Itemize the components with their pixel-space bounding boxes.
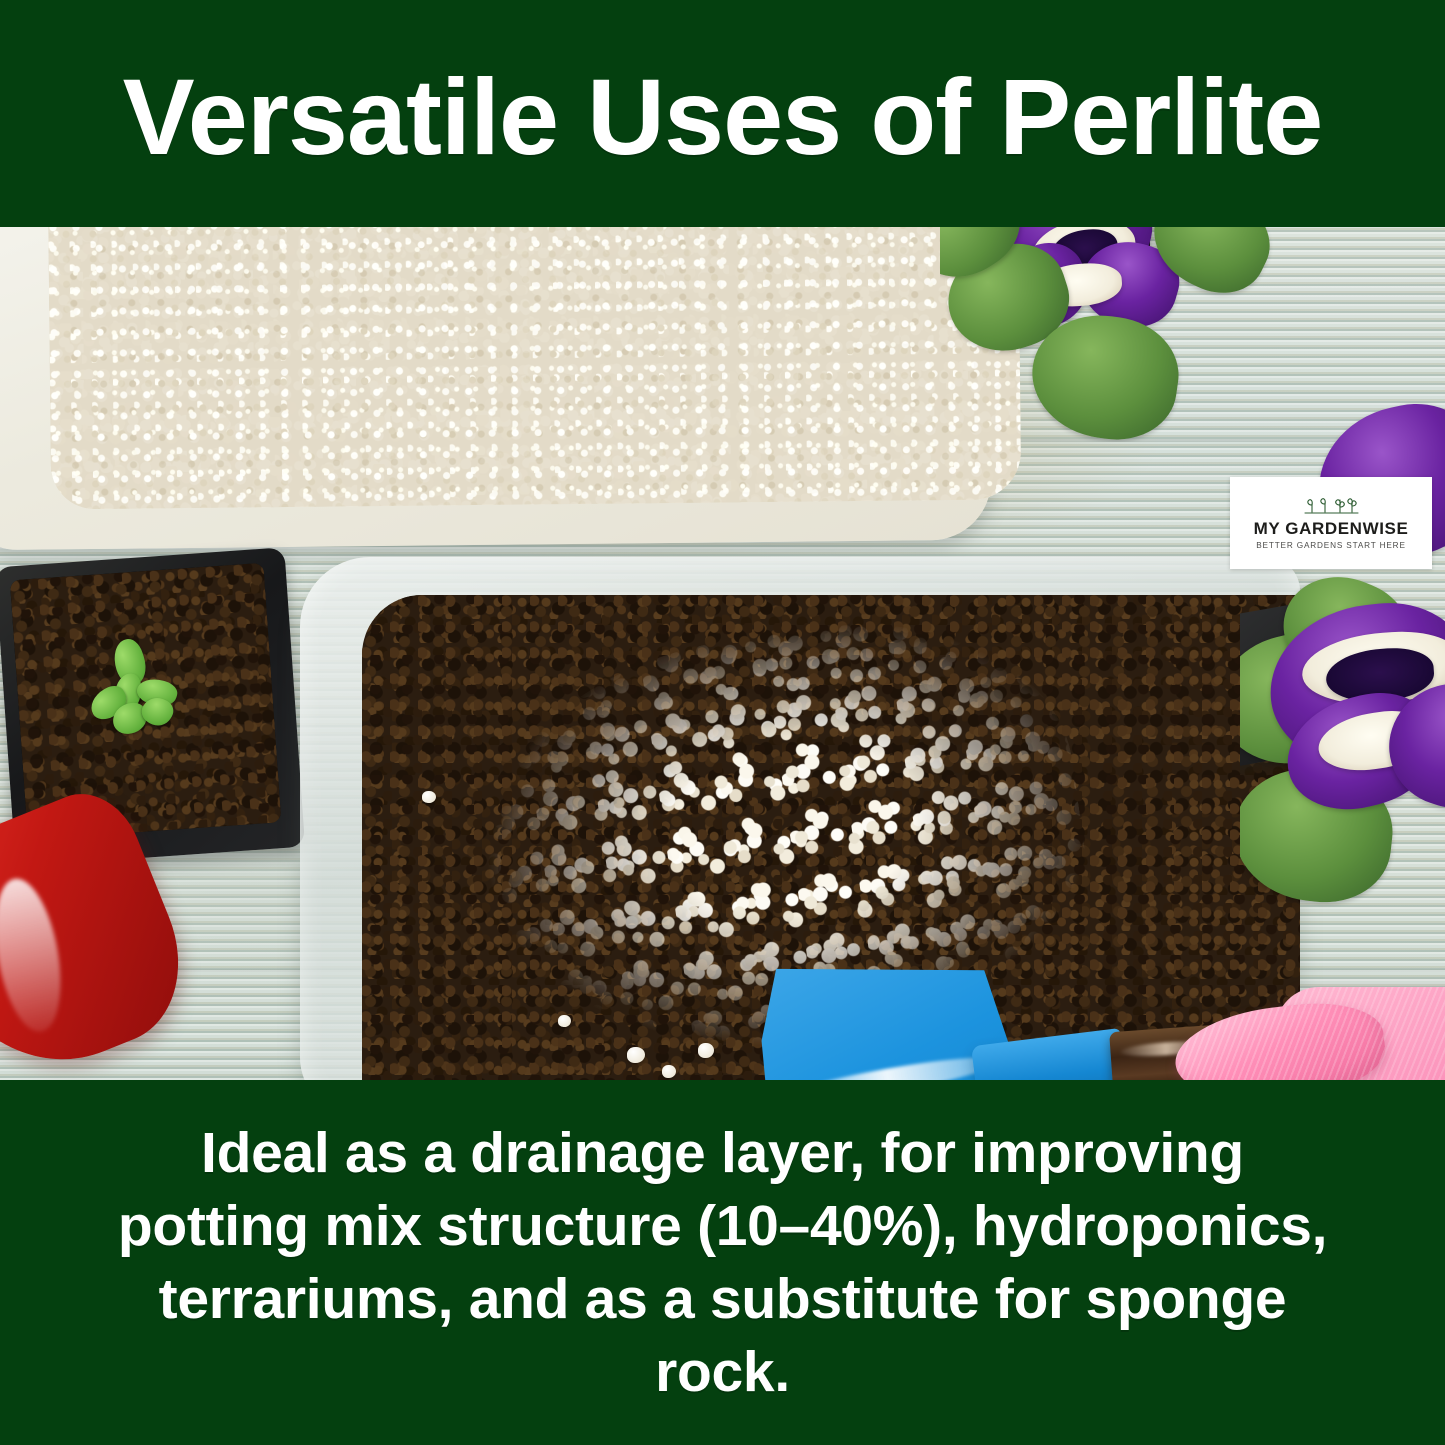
seedling-sprouts-icon <box>1300 496 1362 516</box>
perlite-granules-fine <box>48 227 1021 509</box>
header-band: Versatile Uses of Perlite <box>0 0 1445 227</box>
logo-name: MY GARDENWISE <box>1254 519 1409 538</box>
perlite-granule <box>422 791 436 803</box>
perlite-granule <box>558 1015 571 1027</box>
perlite-tray-contents <box>48 227 1021 509</box>
caption-text: Ideal as a drainage layer, for improving… <box>113 1117 1333 1409</box>
pansy-cluster-top <box>940 227 1290 442</box>
photo-stage: MY GARDENWISE BETTER GARDENS START HERE <box>0 227 1445 1080</box>
brand-logo[interactable]: MY GARDENWISE BETTER GARDENS START HERE <box>1230 477 1432 569</box>
seedling-pot-soil <box>10 563 282 840</box>
perlite-tray <box>0 227 992 550</box>
caption-band: Ideal as a drainage layer, for improving… <box>0 1080 1445 1445</box>
red-trowel-highlight <box>0 874 71 1037</box>
perlite-infographic: Versatile Uses of Perlite <box>0 0 1445 1445</box>
seedling-plant-icon <box>81 633 198 750</box>
pansy-cluster-right <box>1240 397 1445 917</box>
page-title: Versatile Uses of Perlite <box>123 63 1323 171</box>
logo-tagline: BETTER GARDENS START HERE <box>1256 540 1406 551</box>
pink-glove <box>1185 997 1445 1080</box>
blue-trowel-highlight <box>775 1049 1003 1080</box>
